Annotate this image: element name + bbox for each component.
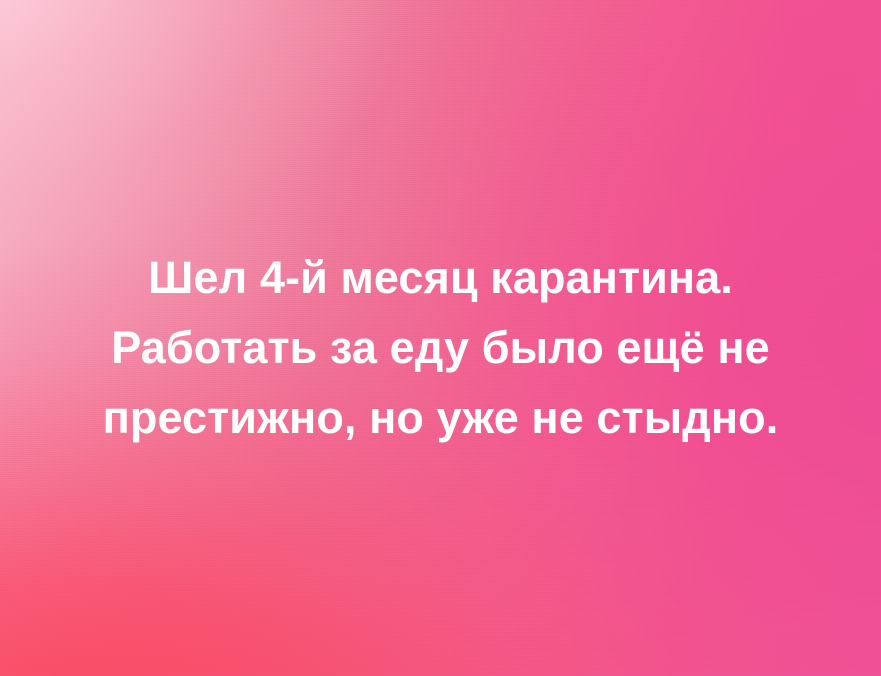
caption-text-block: Шел 4-й месяц карантина. Работать за еду… xyxy=(0,243,881,453)
demotivator-card: Шел 4-й месяц карантина. Работать за еду… xyxy=(0,0,881,676)
caption-line-2: Работать за еду было ещё не xyxy=(18,313,863,383)
caption-line-1: Шел 4-й месяц карантина. xyxy=(18,243,863,313)
caption-line-3: престижно, но уже не стыдно. xyxy=(18,383,863,453)
